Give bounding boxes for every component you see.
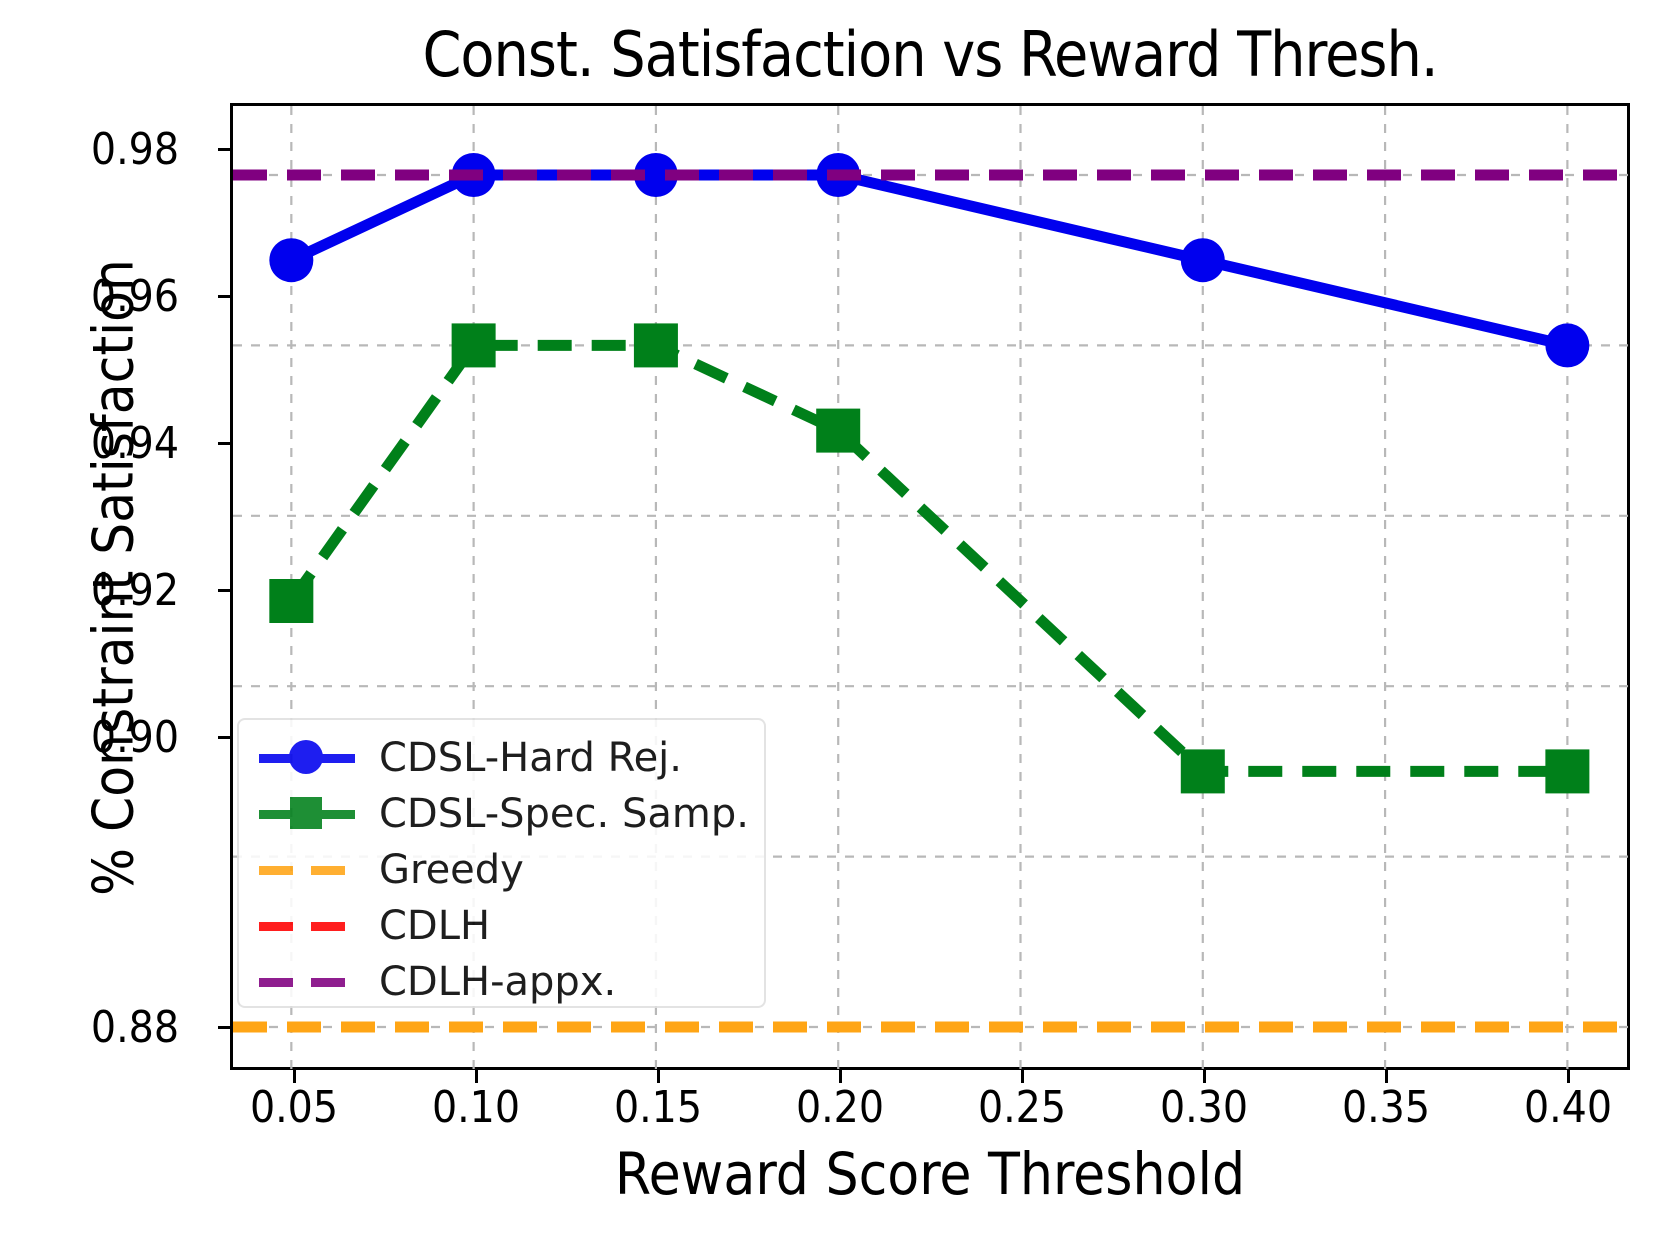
data-point-1-3 [816,409,860,453]
y-tick-label-0: 0.98 [19,124,179,175]
data-point-1-1 [452,323,496,367]
legend-label-3: CDLH [379,903,490,949]
legend-dashed-line-icon [259,922,355,931]
line-path-0 [291,175,1567,345]
x-tick-label-4: 0.25 [922,1082,1122,1133]
x-tick-label-0: 0.05 [194,1082,394,1133]
chart-page: Const. Satisfaction vs Reward Thresh. % … [0,0,1661,1246]
y-tick-label-5: 0.88 [19,1002,179,1053]
legend-item-cdlh[interactable]: CDLH [239,898,764,954]
y-tickmark-1 [218,295,230,298]
legend-swatch-cdsl-spec-samp [259,791,355,837]
data-point-0-5 [1545,323,1589,367]
legend-label-4: CDLH-appx. [379,959,616,1005]
legend-swatch-cdsl-hard-rej [259,735,355,781]
legend-label-0: CDSL-Hard Rej. [379,735,682,781]
data-point-1-4 [1181,749,1225,793]
legend-swatch-cdlh-appx [259,959,355,1005]
legend-swatch-greedy [259,847,355,893]
y-tickmark-2 [218,442,230,445]
data-point-0-4 [1181,238,1225,282]
x-tick-label-2: 0.15 [558,1082,758,1133]
data-point-1-5 [1545,749,1589,793]
data-point-1-2 [634,323,678,367]
legend-item-greedy[interactable]: Greedy [239,842,764,898]
x-tick-label-7: 0.40 [1468,1082,1661,1133]
y-tick-label-1: 0.96 [19,271,179,322]
legend-dashed-line-icon [259,978,355,987]
x-tick-label-5: 0.30 [1104,1082,1304,1133]
legend-item-cdlh-appx[interactable]: CDLH-appx. [239,954,764,1010]
y-tickmark-3 [218,589,230,592]
legend-label-1: CDSL-Spec. Samp. [379,791,749,837]
chart-legend: CDSL-Hard Rej. CDSL-Spec. Samp. Greedy C… [237,718,766,1008]
square-marker-icon [290,797,322,829]
x-axis-label: Reward Score Threshold [230,1140,1630,1208]
y-tick-label-3: 0.92 [19,565,179,616]
x-tick-label-3: 0.20 [740,1082,940,1133]
x-tick-label-1: 0.10 [376,1082,576,1133]
y-tickmark-4 [218,736,230,739]
legend-swatch-cdlh [259,903,355,949]
y-tick-label-4: 0.90 [19,712,179,763]
y-tickmark-5 [218,1026,230,1029]
x-tick-label-6: 0.35 [1286,1082,1486,1133]
legend-dashed-line-icon [259,866,355,875]
line-path-1 [291,345,1567,771]
data-point-0-0 [269,238,313,282]
legend-label-2: Greedy [379,847,524,893]
y-tick-label-2: 0.94 [19,418,179,469]
circle-marker-icon [289,740,323,774]
data-point-1-0 [269,579,313,623]
y-tickmark-0 [218,148,230,151]
legend-item-cdsl-spec-samp[interactable]: CDSL-Spec. Samp. [239,786,764,842]
chart-title: Const. Satisfaction vs Reward Thresh. [230,18,1630,91]
legend-item-cdsl-hard-rej[interactable]: CDSL-Hard Rej. [239,730,764,786]
